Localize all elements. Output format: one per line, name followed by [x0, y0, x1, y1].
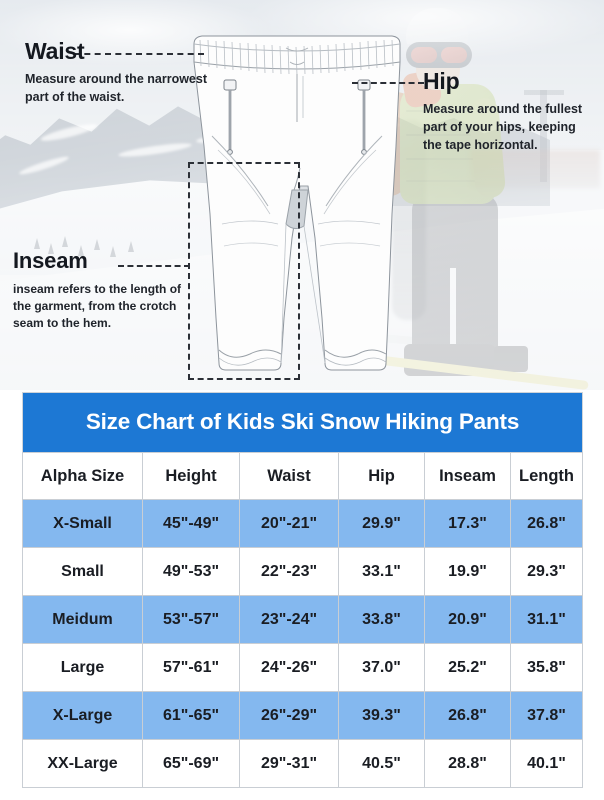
cell-inseam: 19.9" — [425, 548, 511, 596]
cell-waist: 26"-29" — [240, 692, 339, 740]
callout-waist-body: Measure around the narrowest part of the… — [25, 71, 215, 107]
hero-illustration-panel: Waist Measure around the narrowest part … — [0, 0, 604, 390]
callout-waist: Waist Measure around the narrowest part … — [25, 40, 215, 107]
cell-alpha-size: Meidum — [23, 596, 143, 644]
table-row: Large 57"-61" 24"-26" 37.0" 25.2" 35.8" — [23, 644, 583, 692]
goggle-lens-left — [411, 47, 437, 63]
ski-pants-technical-drawing — [182, 18, 412, 386]
cell-waist: 29"-31" — [240, 740, 339, 788]
skier-leg-gap — [450, 268, 456, 354]
cell-inseam: 20.9" — [425, 596, 511, 644]
cell-alpha-size: Large — [23, 644, 143, 692]
size-chart-table: Size Chart of Kids Ski Snow Hiking Pants… — [22, 392, 583, 788]
cell-length: 31.1" — [511, 596, 583, 644]
callout-hip-body: Measure around the fullest part of your … — [423, 101, 595, 154]
column-header-height: Height — [143, 453, 240, 500]
cell-height: 45"-49" — [143, 500, 240, 548]
table-header-row: Alpha Size Height Waist Hip Inseam Lengt… — [23, 453, 583, 500]
cell-hip: 37.0" — [339, 644, 425, 692]
callout-waist-title: Waist — [25, 40, 215, 63]
cell-waist: 24"-26" — [240, 644, 339, 692]
callout-hip: Hip Measure around the fullest part of y… — [423, 70, 595, 154]
table-row: Small 49"-53" 22"-23" 33.1" 19.9" 29.3" — [23, 548, 583, 596]
column-header-alpha-size: Alpha Size — [23, 453, 143, 500]
cell-length: 26.8" — [511, 500, 583, 548]
size-chart-title: Size Chart of Kids Ski Snow Hiking Pants — [22, 392, 583, 452]
cell-inseam: 26.8" — [425, 692, 511, 740]
size-chart-page: Waist Measure around the narrowest part … — [0, 0, 604, 800]
column-header-waist: Waist — [240, 453, 339, 500]
column-header-length: Length — [511, 453, 583, 500]
cell-hip: 33.1" — [339, 548, 425, 596]
cell-hip: 29.9" — [339, 500, 425, 548]
cell-hip: 40.5" — [339, 740, 425, 788]
table-row: X-Small 45"-49" 20"-21" 29.9" 17.3" 26.8… — [23, 500, 583, 548]
callout-hip-title: Hip — [423, 70, 595, 93]
column-header-inseam: Inseam — [425, 453, 511, 500]
child-skier-figure — [398, 6, 588, 386]
table-header: Alpha Size Height Waist Hip Inseam Lengt… — [23, 453, 583, 500]
table-row: X-Large 61"-65" 26"-29" 39.3" 26.8" 37.8… — [23, 692, 583, 740]
cell-height: 65"-69" — [143, 740, 240, 788]
table-row: Meidum 53"-57" 23"-24" 33.8" 20.9" 31.1" — [23, 596, 583, 644]
cell-waist: 22"-23" — [240, 548, 339, 596]
cell-alpha-size: Small — [23, 548, 143, 596]
cell-length: 29.3" — [511, 548, 583, 596]
callout-inseam: Inseam inseam refers to the length of th… — [13, 250, 201, 332]
cell-inseam: 25.2" — [425, 644, 511, 692]
goggle-lens-right — [441, 47, 467, 63]
cell-height: 53"-57" — [143, 596, 240, 644]
cell-hip: 39.3" — [339, 692, 425, 740]
cell-waist: 20"-21" — [240, 500, 339, 548]
cell-length: 35.8" — [511, 644, 583, 692]
callout-inseam-title: Inseam — [13, 250, 201, 272]
cell-alpha-size: X-Large — [23, 692, 143, 740]
table-row: XX-Large 65"-69" 29"-31" 40.5" 28.8" 40.… — [23, 740, 583, 788]
ski-binding — [494, 346, 528, 372]
cell-height: 61"-65" — [143, 692, 240, 740]
cell-height: 49"-53" — [143, 548, 240, 596]
cell-length: 40.1" — [511, 740, 583, 788]
table-body: X-Small 45"-49" 20"-21" 29.9" 17.3" 26.8… — [23, 500, 583, 788]
cell-alpha-size: XX-Large — [23, 740, 143, 788]
cell-inseam: 28.8" — [425, 740, 511, 788]
column-header-hip: Hip — [339, 453, 425, 500]
cell-hip: 33.8" — [339, 596, 425, 644]
cell-inseam: 17.3" — [425, 500, 511, 548]
conifer-tree — [94, 239, 100, 250]
cell-height: 57"-61" — [143, 644, 240, 692]
size-chart-table-wrap: Size Chart of Kids Ski Snow Hiking Pants… — [22, 392, 582, 788]
conifer-tree — [62, 236, 68, 247]
cell-length: 37.8" — [511, 692, 583, 740]
cell-waist: 23"-24" — [240, 596, 339, 644]
cell-alpha-size: X-Small — [23, 500, 143, 548]
callout-inseam-body: inseam refers to the length of the garme… — [13, 281, 201, 332]
